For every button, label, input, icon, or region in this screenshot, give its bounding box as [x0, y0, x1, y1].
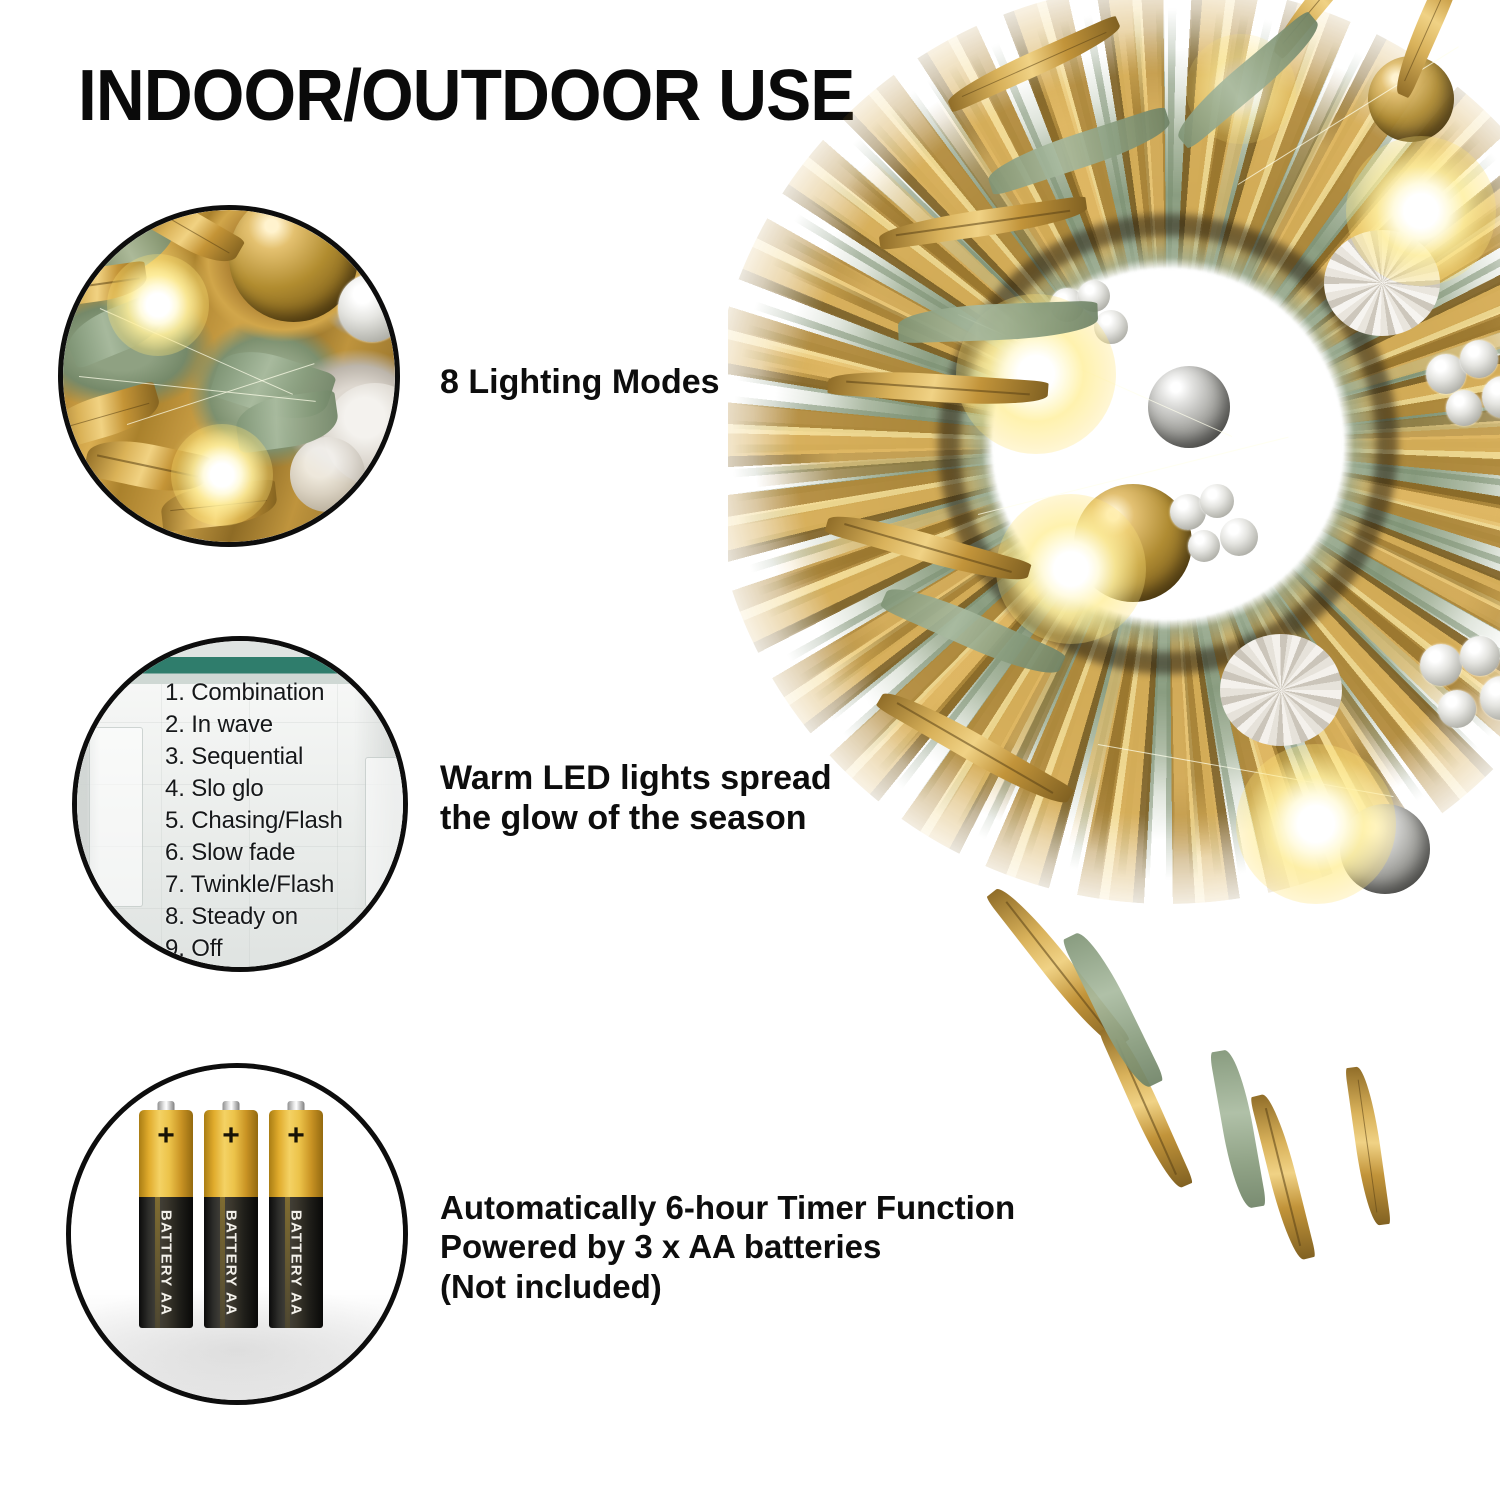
lighting-mode-item: 5. Chasing/Flash — [165, 805, 343, 837]
battery-label-text: BATTERY AA — [223, 1209, 240, 1315]
lighting-mode-item: 9. Off — [165, 933, 343, 965]
battery-body: BATTERY AA — [139, 1197, 193, 1328]
silver-berry-icon — [1078, 280, 1110, 312]
lighting-mode-item: 6. Slow fade — [165, 837, 343, 869]
silver-berry-icon — [1480, 676, 1500, 720]
battery-body: BATTERY AA — [204, 1197, 258, 1328]
lighting-mode-item: 1. Combination — [165, 677, 343, 709]
battery-box-bracket — [365, 757, 403, 907]
silver-glitter-ball-icon — [338, 274, 395, 342]
battery-plus-icon: + — [155, 1126, 177, 1148]
lit-wreath-closeup-photo — [63, 210, 395, 542]
lighting-mode-item: 3. Sequential — [165, 741, 343, 773]
lighting-mode-item: 2. In wave — [165, 709, 343, 741]
three-aa-batteries-photo: + BATTERY AA + BATTERY AA — [71, 1068, 403, 1400]
lit-wreath-photo-frame — [63, 210, 395, 542]
battery-label-text: BATTERY AA — [158, 1209, 175, 1315]
battery-label-text: BATTERY AA — [288, 1209, 305, 1315]
silver-berry-icon — [1188, 530, 1220, 562]
silver-berry-icon — [1460, 636, 1500, 676]
frosted-pine-sprig-icon — [1061, 927, 1164, 1094]
aa-battery: + BATTERY AA — [269, 1110, 323, 1328]
battery-body: BATTERY AA — [269, 1197, 323, 1328]
white-pine-cone-icon — [1324, 230, 1440, 336]
battery-photo-frame: + BATTERY AA + BATTERY AA — [71, 1068, 403, 1400]
battery-box-bracket — [89, 727, 143, 907]
silver-berry-cluster — [1426, 340, 1500, 436]
battery-positive-cap: + — [204, 1110, 258, 1197]
aa-battery: + BATTERY AA — [139, 1110, 193, 1328]
frosted-pine-sprig-icon — [1209, 1048, 1266, 1211]
battery-positive-cap: + — [269, 1110, 323, 1197]
white-pine-cone-icon — [1220, 634, 1342, 746]
feature-circle-batteries: + BATTERY AA + BATTERY AA — [66, 1063, 408, 1405]
mode-label-photo-frame: 1. Combination 2. In wave 3. Sequential … — [77, 641, 403, 967]
feature-circle-lighting-modes — [58, 205, 400, 547]
gold-leaf-icon — [1250, 1091, 1316, 1262]
lighting-mode-item: 4. Slo glo — [165, 773, 343, 805]
feature-circle-mode-list: 1. Combination 2. In wave 3. Sequential … — [72, 636, 408, 972]
silver-berry-icon — [1460, 340, 1498, 378]
silver-berry-cluster — [1170, 484, 1274, 576]
silver-berry-icon — [1200, 484, 1234, 518]
aa-battery: + BATTERY AA — [204, 1110, 258, 1328]
silver-berry-cluster — [1050, 280, 1142, 362]
silver-ornament-ball-icon — [1340, 804, 1430, 894]
gold-leaf-icon — [1345, 1065, 1391, 1227]
silver-berry-icon — [1482, 376, 1500, 418]
gold-leaf-icon — [1098, 1021, 1193, 1192]
silver-berry-cluster — [1416, 636, 1500, 740]
silver-berry-icon — [1438, 690, 1476, 728]
lighting-mode-list: 1. Combination 2. In wave 3. Sequential … — [165, 677, 343, 965]
gold-leaf-icon — [985, 881, 1130, 1056]
wreath-ring — [768, 44, 1500, 844]
caption-lighting-modes: 8 Lighting Modes — [440, 362, 720, 402]
lighting-mode-item: 7. Twinkle/Flash — [165, 869, 343, 901]
battery-plus-icon: + — [285, 1126, 307, 1148]
silver-ornament-ball-icon — [1148, 366, 1230, 448]
battery-positive-cap: + — [139, 1110, 193, 1197]
silver-berry-icon — [1220, 518, 1258, 556]
lighting-mode-item: 8. Steady on — [165, 901, 343, 933]
gold-ornament-ball-icon — [1368, 56, 1454, 142]
white-pine-cone-icon — [290, 437, 365, 512]
battery-plus-icon: + — [220, 1126, 242, 1148]
infographic-page: INDOOR/OUTDOOR USE — [0, 0, 1500, 1500]
silver-berry-icon — [1094, 310, 1128, 344]
silver-berry-icon — [1420, 644, 1462, 686]
silver-berry-icon — [1446, 390, 1482, 426]
wreath-product-photo — [728, 0, 1500, 1500]
